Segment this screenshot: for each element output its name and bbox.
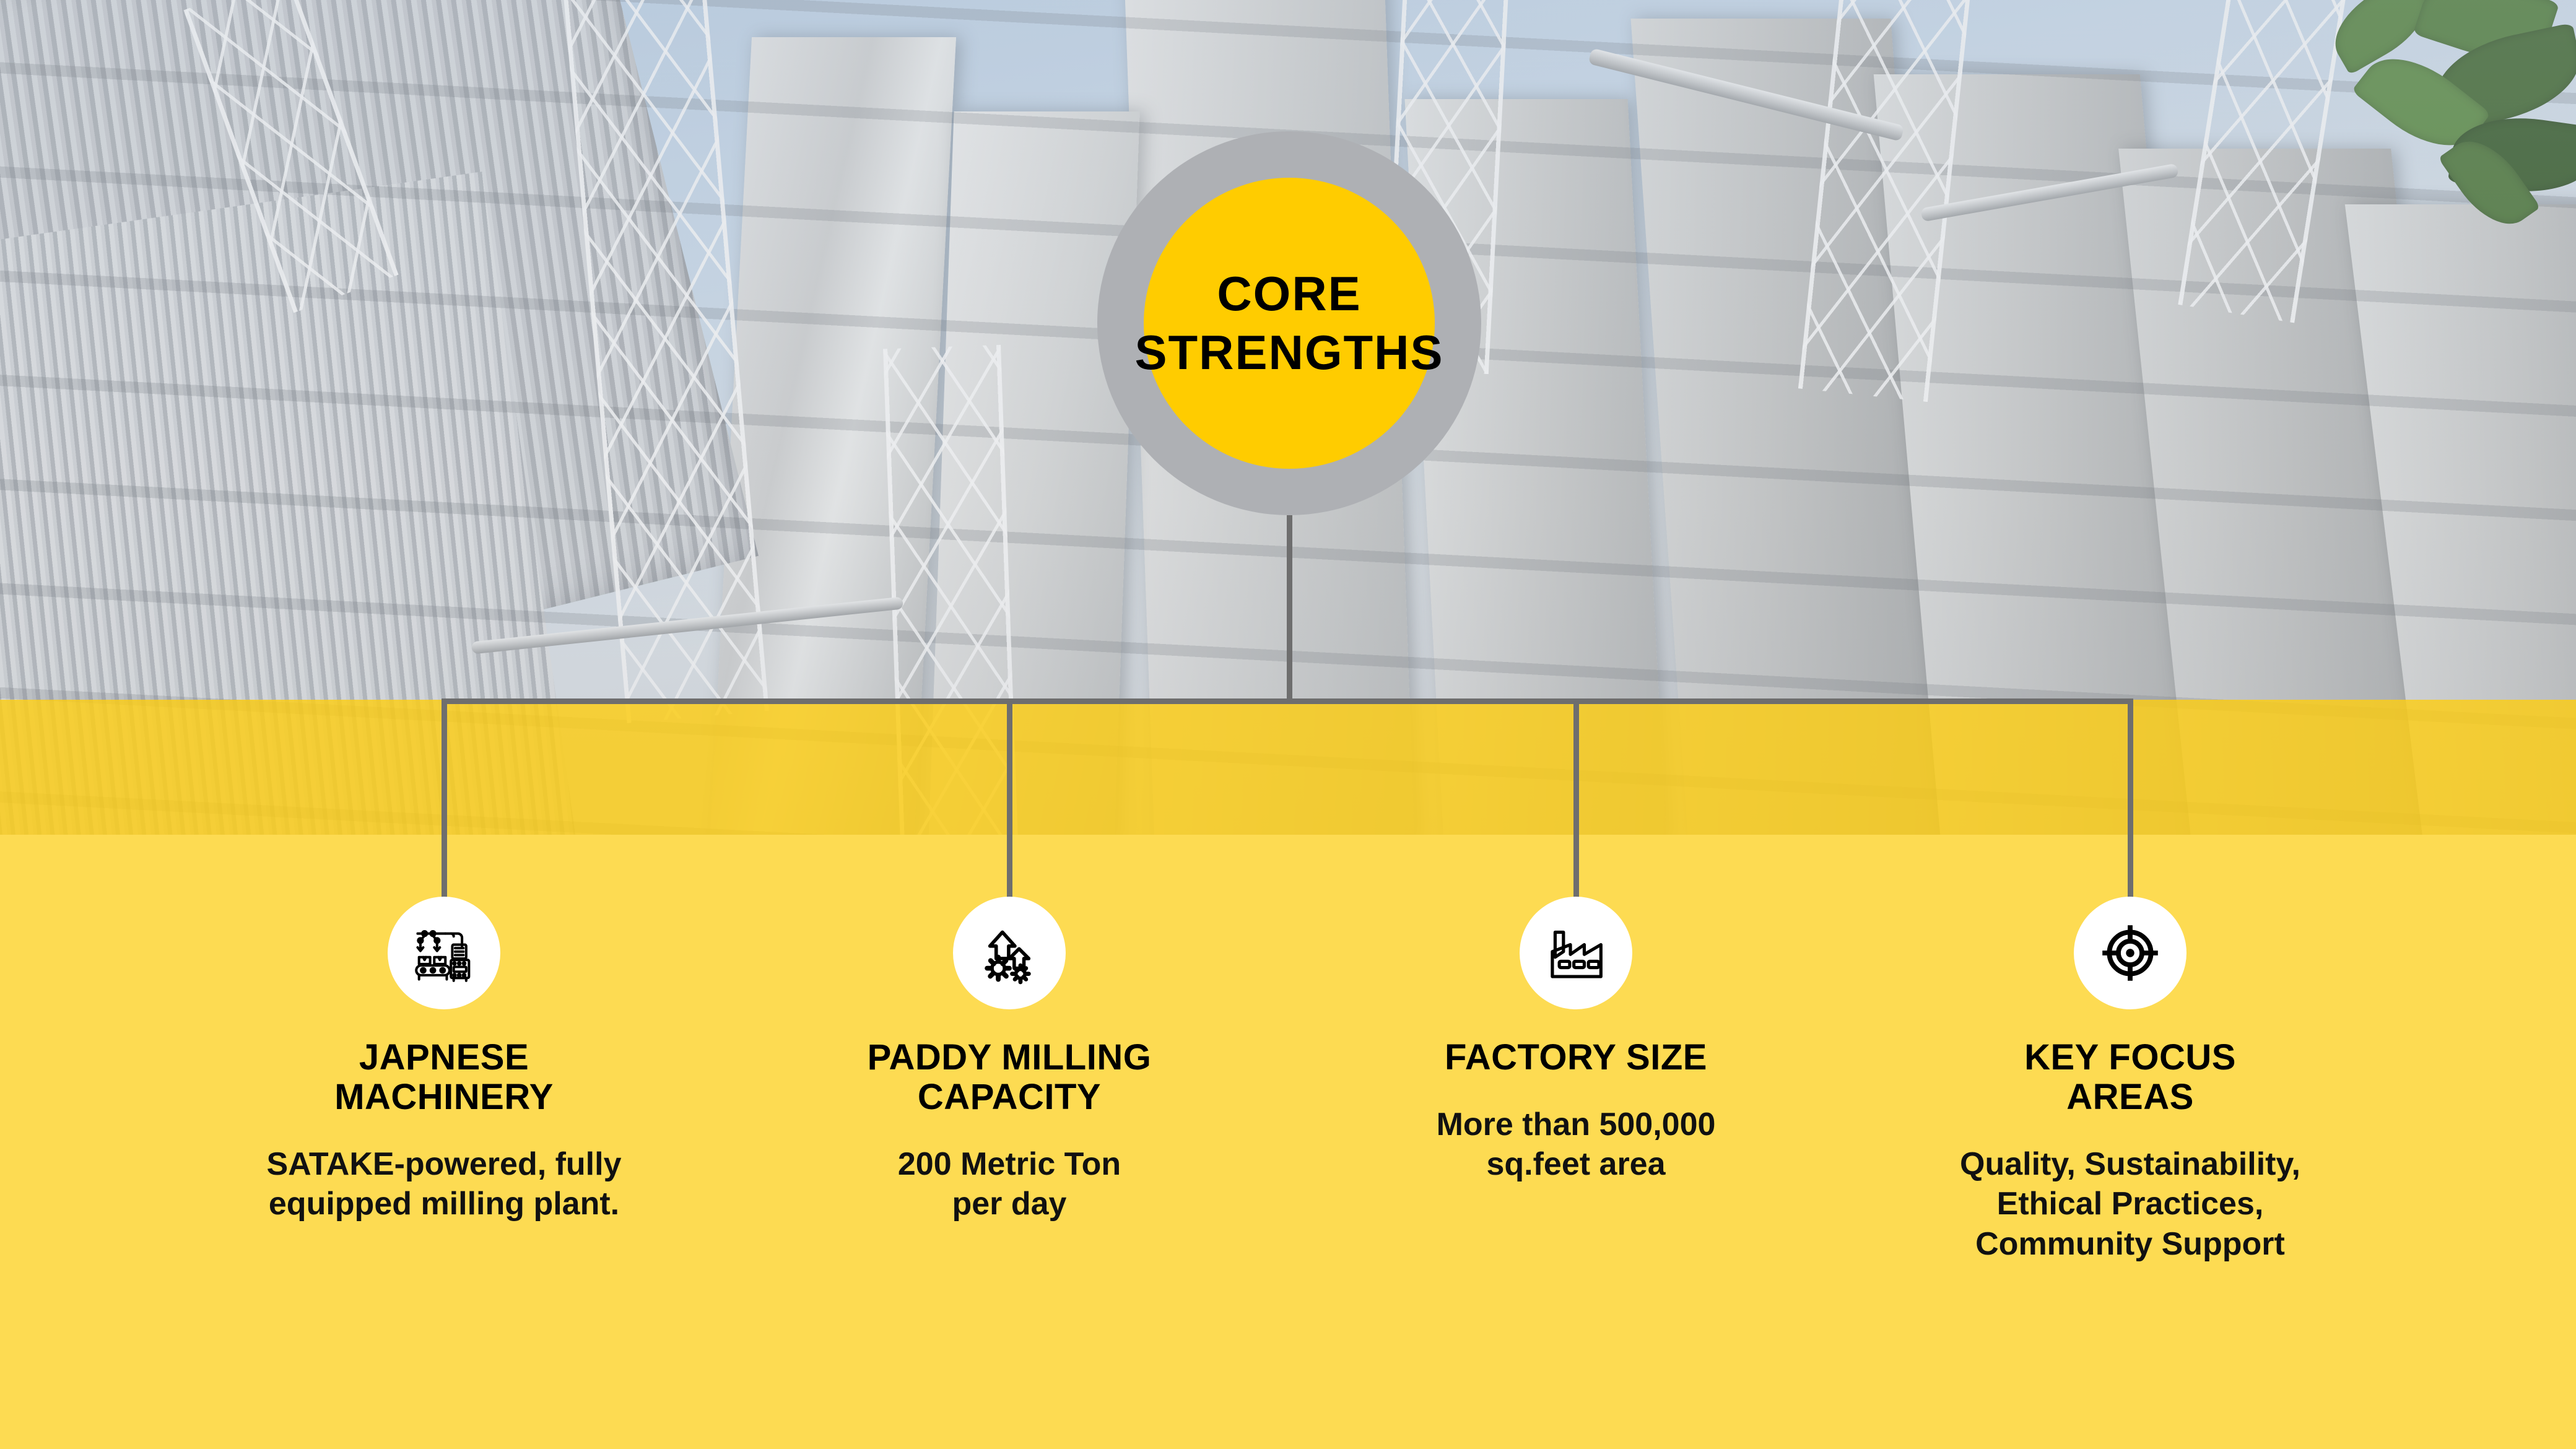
horizontal-bus-line [443,698,2133,704]
strength-column-4: KEY FOCUS AREAS Quality, Sustainability,… [1839,897,2421,1264]
gears-growth-arrows-icon [953,897,1066,1009]
column-2-desc-line1: 200 Metric Ton [718,1144,1300,1184]
column-2-title-line1: PADDY MILLING [718,1038,1300,1077]
drop-line-2 [1007,698,1012,900]
column-1-desc-line2: equipped milling plant. [153,1184,735,1224]
column-4-title-line1: KEY FOCUS [1839,1038,2421,1077]
drop-line-3 [1573,698,1579,900]
core-title-line2: STRENGTHS [1134,325,1443,380]
column-4-desc-line3: Community Support [1839,1224,2421,1264]
column-4-title-line2: AREAS [1839,1077,2421,1117]
target-crosshair-icon [2074,897,2187,1009]
column-1-title: JAPNESE MACHINERY [153,1038,735,1117]
column-1-desc-line1: SATAKE-powered, fully [153,1144,735,1184]
column-4-description: Quality, Sustainability, Ethical Practic… [1839,1144,2421,1264]
core-title-line1: CORE [1217,266,1361,321]
column-3-desc-line1: More than 500,000 [1285,1105,1867,1144]
center-stem-line [1287,515,1292,704]
column-4-desc-line1: Quality, Sustainability, [1839,1144,2421,1184]
assembly-line-icon [388,897,500,1009]
column-4-desc-line2: Ethical Practices, [1839,1184,2421,1224]
strength-column-2: PADDY MILLING CAPACITY 200 Metric Ton pe… [718,897,1300,1224]
column-2-desc-line2: per day [718,1184,1300,1224]
column-3-title: FACTORY SIZE [1285,1038,1867,1077]
column-2-title-line2: CAPACITY [718,1077,1300,1117]
column-1-description: SATAKE-powered, fully equipped milling p… [153,1144,735,1224]
drop-line-1 [442,698,447,900]
core-strengths-inner-circle: CORE STRENGTHS [1144,178,1435,469]
column-2-description: 200 Metric Ton per day [718,1144,1300,1224]
strength-column-1: JAPNESE MACHINERY SATAKE-powered, fully … [153,897,735,1224]
drop-line-4 [2128,698,2133,900]
column-2-title: PADDY MILLING CAPACITY [718,1038,1300,1117]
factory-icon [1520,897,1632,1009]
column-3-title-line1: FACTORY SIZE [1285,1038,1867,1077]
column-1-title-line1: JAPNESE [153,1038,735,1077]
column-3-description: More than 500,000 sq.feet area [1285,1105,1867,1185]
column-1-title-line2: MACHINERY [153,1077,735,1117]
column-4-title: KEY FOCUS AREAS [1839,1038,2421,1117]
column-3-desc-line2: sq.feet area [1285,1144,1867,1184]
core-strengths-circle: CORE STRENGTHS [1097,131,1481,515]
strength-column-3: FACTORY SIZE More than 500,000 sq.feet a… [1285,897,1867,1185]
